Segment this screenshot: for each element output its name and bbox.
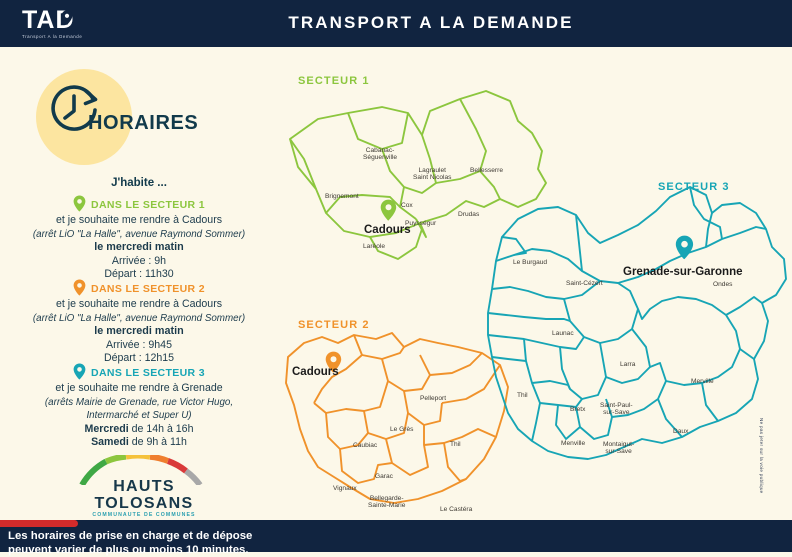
commune-label: Saint-Paul-sur-Save [600,402,633,417]
commune-label: Brignemont [325,193,359,200]
map-pin-icon [675,235,694,260]
sector-1-stop: (arrêt LiO "La Halle", avenue Raymond So… [0,228,278,242]
panel-intro: J'habite ... [0,177,278,189]
sector-3-boundaries [488,187,786,459]
commune-label: LagrauletSaint Nicolas [413,167,451,182]
sector-3-stop: (arrêts Mairie de Grenade, rue Victor Hu… [0,396,278,410]
panel-title: HORAIRES [88,112,198,135]
map-sector-2-title: SECTEUR 2 [298,319,370,331]
sector-1-destination: et je souhaite me rendre à Cadours [0,214,278,228]
map-pin-icon [73,195,86,212]
footer-note: Les horaires de prise en charge et de dé… [8,529,428,557]
footer-accent-bar [0,520,78,527]
commune-label: Le Grès [390,426,413,433]
commune-label: Cox [401,202,413,209]
commune-label: Daux [673,428,688,435]
sector-1-day: le mercredi matin [0,241,278,255]
sector-2-arrival: Arrivée : 9h45 [0,339,278,353]
sector-3-heading: DANS LE SECTEUR 3 [91,365,205,381]
commune-label: Larra [620,361,635,368]
commune-label: Vignaux [333,485,357,492]
map-sector-1-title: SECTEUR 1 [298,75,370,87]
map-city-grenade: Grenade-sur-Garonne [623,266,743,278]
schedule-panel: HORAIRES J'habite ... DANS LE SECTEUR 1 … [0,47,278,520]
map-sector-3-title: SECTEUR 3 [658,181,730,193]
map-city-cadours-s1: Cadours [364,224,411,236]
sector-3-block: DANS LE SECTEUR 3 et je souhaite me rend… [0,363,278,450]
sector-3-day-wed: Mercredi [85,423,129,435]
hauts-tolosans-subtitle: COMMUNAUTE DE COMMUNES [64,512,224,518]
sector-3-schedule-sat: Samedi de 9h à 11h [0,436,278,450]
page-header: TAD Transport A la Demande TRANSPORT A L… [0,0,792,47]
commune-label: Bellesserre [470,167,503,174]
tad-logo-tagline: Transport A la Demande [22,34,132,39]
sector-map: SECTEUR 1 SECTEUR 2 SECTEUR 3 Cabanac-Sé… [270,47,792,520]
sector-2-destination: et je souhaite me rendre à Cadours [0,298,278,312]
sector-2-heading: DANS LE SECTEUR 2 [91,281,205,297]
commune-label: Bretx [570,406,585,413]
hauts-tolosans-name: HAUTS TOLOSANS [64,479,224,512]
print-credit: Ne pas jeter sur la voie publique [759,418,764,494]
ht-line1: HAUTS [113,478,175,495]
map-pin-icon [380,199,397,221]
commune-label: Thil [450,441,461,448]
sector-3-stop-2: Intermarché et Super U) [0,409,278,423]
commune-label: Pelleport [420,395,446,402]
ht-line2: TOLOSANS [94,495,193,512]
sector-3-destination: et je souhaite me rendre à Grenade [0,382,278,396]
sector-2-stop: (arrêt LiO "La Halle", avenue Raymond So… [0,312,278,326]
hauts-tolosans-logo: HAUTS TOLOSANS COMMUNAUTE DE COMMUNES [64,455,224,517]
commune-label: Laréole [363,243,385,250]
infographic-page: TAD Transport A la Demande TRANSPORT A L… [0,0,792,552]
commune-label: Thil [517,392,528,399]
commune-label: Saint-Cézert [566,280,603,287]
sector-2-block: DANS LE SECTEUR 2 et je souhaite me rend… [0,279,278,366]
commune-label: Launac [552,330,574,337]
commune-label: Cabanac-Séguenville [363,147,397,162]
sector-1-block: DANS LE SECTEUR 1 et je souhaite me rend… [0,195,278,282]
sector-1-arrival: Arrivée : 9h [0,255,278,269]
footer-note-line2: peuvent varier de plus ou moins 10 minut… [8,544,249,556]
commune-label: Montaigut-sur-Save [603,441,634,456]
sector-2-day: le mercredi matin [0,325,278,339]
footer-note-line1: Les horaires de prise en charge et de dé… [8,530,252,542]
commune-label: Caubiac [353,442,377,449]
commune-label: Le Castéra [440,506,472,513]
commune-label: Ondes [713,281,732,288]
commune-label: Drudas [458,211,479,218]
commune-label: Menville [561,440,585,447]
sector-3-day-sat: Samedi [91,436,129,448]
commune-label: Merville [691,378,714,385]
commune-label: Garac [375,473,393,480]
sector-1-heading: DANS LE SECTEUR 1 [91,197,205,213]
sector-2-boundaries [286,333,508,503]
sector-3-hours-wed: de 14h à 16h [129,423,194,435]
map-city-cadours-s2: Cadours [292,366,339,378]
map-pin-icon [73,363,86,380]
map-pin-icon [73,279,86,296]
commune-label: Le Burgaud [513,259,547,266]
sector-3-hours-sat: de 9h à 11h [129,436,187,448]
page-title: TRANSPORT A LA DEMANDE [0,13,792,33]
commune-label: Bellegarde-Sainte-Marie [368,495,405,510]
sector-3-schedule-wed: Mercredi de 14h à 16h [0,423,278,437]
